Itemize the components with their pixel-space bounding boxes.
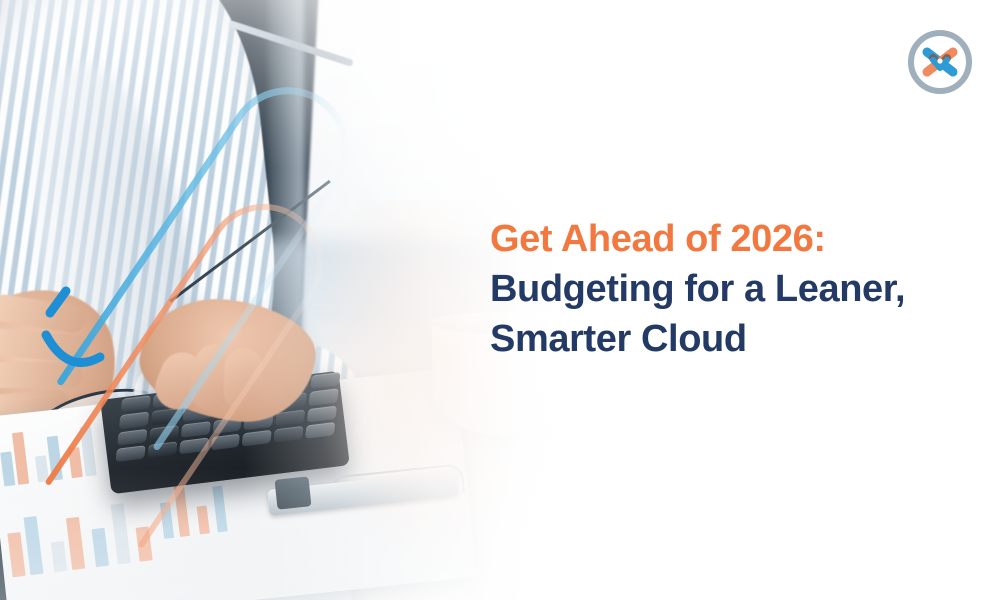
brand-logo-icon[interactable] <box>906 28 974 96</box>
chart-bar <box>68 447 83 478</box>
calculator-key <box>149 425 179 442</box>
chart-bar <box>136 526 153 561</box>
chart-bar <box>12 432 29 485</box>
chart-bar <box>197 506 210 535</box>
finger <box>0 362 82 388</box>
chart-bar <box>174 482 191 537</box>
headline-accent-line: Get Ahead of 2026: <box>490 214 970 264</box>
chart-bar <box>80 426 97 477</box>
headline-line-3: Smarter Cloud <box>490 314 970 364</box>
calculator-key <box>180 421 210 438</box>
calculator-key <box>119 412 149 429</box>
chart-bar <box>47 436 63 481</box>
chart-bar <box>212 485 228 532</box>
headline-block: Get Ahead of 2026: Budgeting for a Leane… <box>490 214 970 364</box>
banner-root: Get Ahead of 2026: Budgeting for a Leane… <box>0 0 1000 600</box>
chart-bar <box>35 455 49 482</box>
chart-bar <box>66 517 85 570</box>
calculator-key <box>117 428 147 445</box>
finger <box>223 347 263 410</box>
chart-bar <box>24 516 44 575</box>
chart-bar <box>91 528 109 567</box>
headline-line-2: Budgeting for a Leaner, <box>490 264 970 314</box>
chart-bar <box>51 541 68 572</box>
chart-bar <box>111 503 131 564</box>
calculator-key <box>151 408 181 425</box>
calculator-key <box>121 395 151 412</box>
